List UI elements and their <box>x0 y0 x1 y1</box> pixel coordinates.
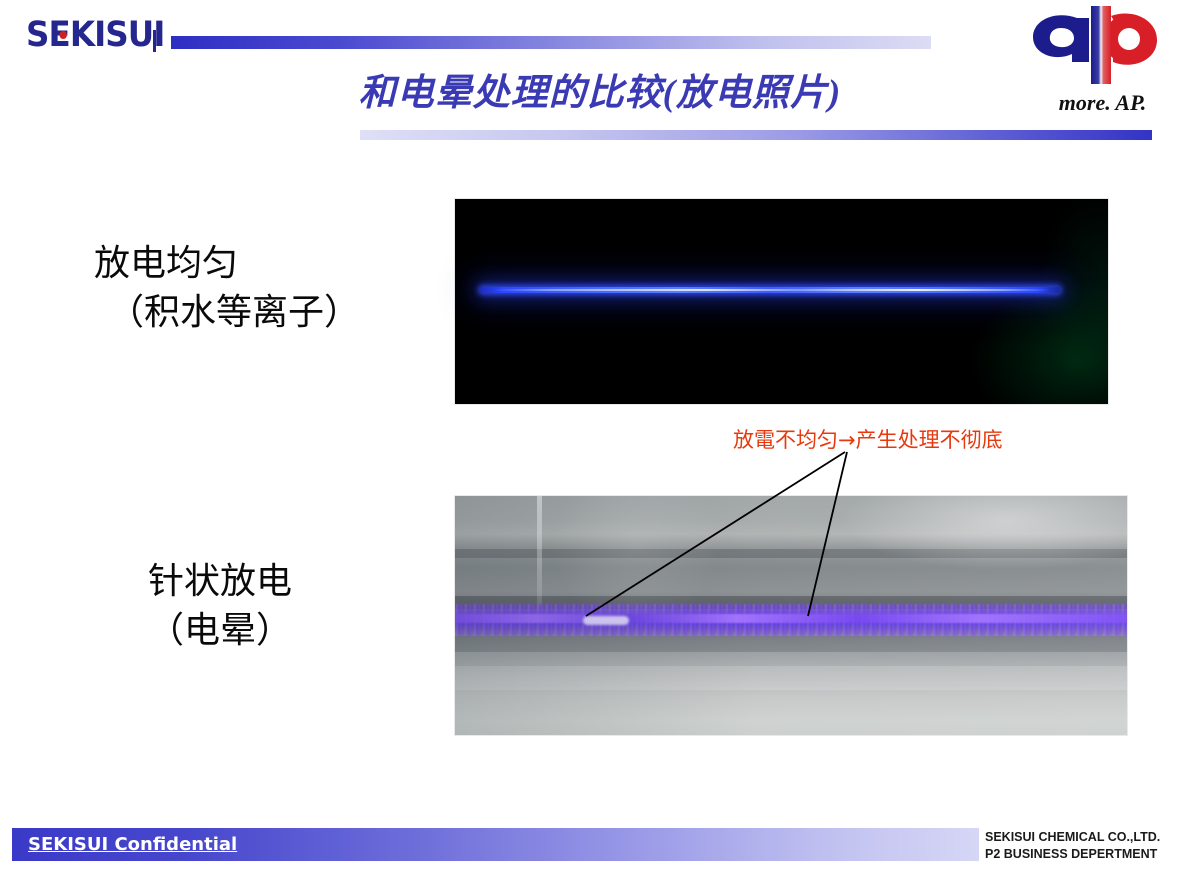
corona-discharge-photo <box>455 496 1127 735</box>
needle-discharge-label: 针状放电 （电晕） <box>148 558 292 655</box>
footer-company-line2: P2 BUSINESS DEPERTMENT <box>985 846 1160 863</box>
roller-shadow-band-1 <box>455 549 1127 558</box>
corona-glow-core <box>455 614 1127 623</box>
page-title: 和电晕处理的比较(放电照片) <box>280 62 920 116</box>
footer-company-info: SEKISUI CHEMICAL CO.,LTD. P2 BUSINESS DE… <box>985 829 1160 863</box>
uniform-discharge-label-line2: （积水等离子） <box>94 289 360 338</box>
footer-confidential-label: SEKISUI Confidential <box>28 834 237 855</box>
needle-discharge-label-line2: （电晕） <box>148 607 292 656</box>
uniform-discharge-label: 放电均匀 （积水等离子） <box>94 240 360 337</box>
sekisui-wordmark-text: SEKISUI <box>26 15 164 55</box>
ap-logo-mark-icon <box>1015 4 1190 96</box>
uniform-discharge-photo <box>455 199 1108 404</box>
plasma-bright-core <box>493 289 1049 291</box>
header-accent-tick <box>153 30 156 52</box>
needle-discharge-label-line1: 针状放电 <box>148 558 292 607</box>
header-gradient-bar <box>171 36 931 49</box>
annotation-text: 放電不均匀→产生处理不彻底 <box>733 424 1003 454</box>
sekisui-logo-red-dot <box>59 31 66 39</box>
roller-shadow-band-3 <box>455 636 1127 652</box>
footer-company-line1: SEKISUI CHEMICAL CO.,LTD. <box>985 829 1160 846</box>
ap-brand-logo: more. AP. <box>1015 4 1190 116</box>
uniform-discharge-label-line1: 放电均匀 <box>94 240 360 289</box>
title-underline-gradient-bar <box>360 130 1152 140</box>
ap-logo-tagline: more. AP. <box>1015 90 1190 116</box>
roller-highlight-band <box>455 666 1127 690</box>
slide-canvas: SEKISUI 和电晕处理的比较(放电照片) <box>0 0 1200 876</box>
corona-bright-hotspot <box>583 616 629 625</box>
sekisui-wordmark-logo: SEKISUI <box>26 18 164 53</box>
